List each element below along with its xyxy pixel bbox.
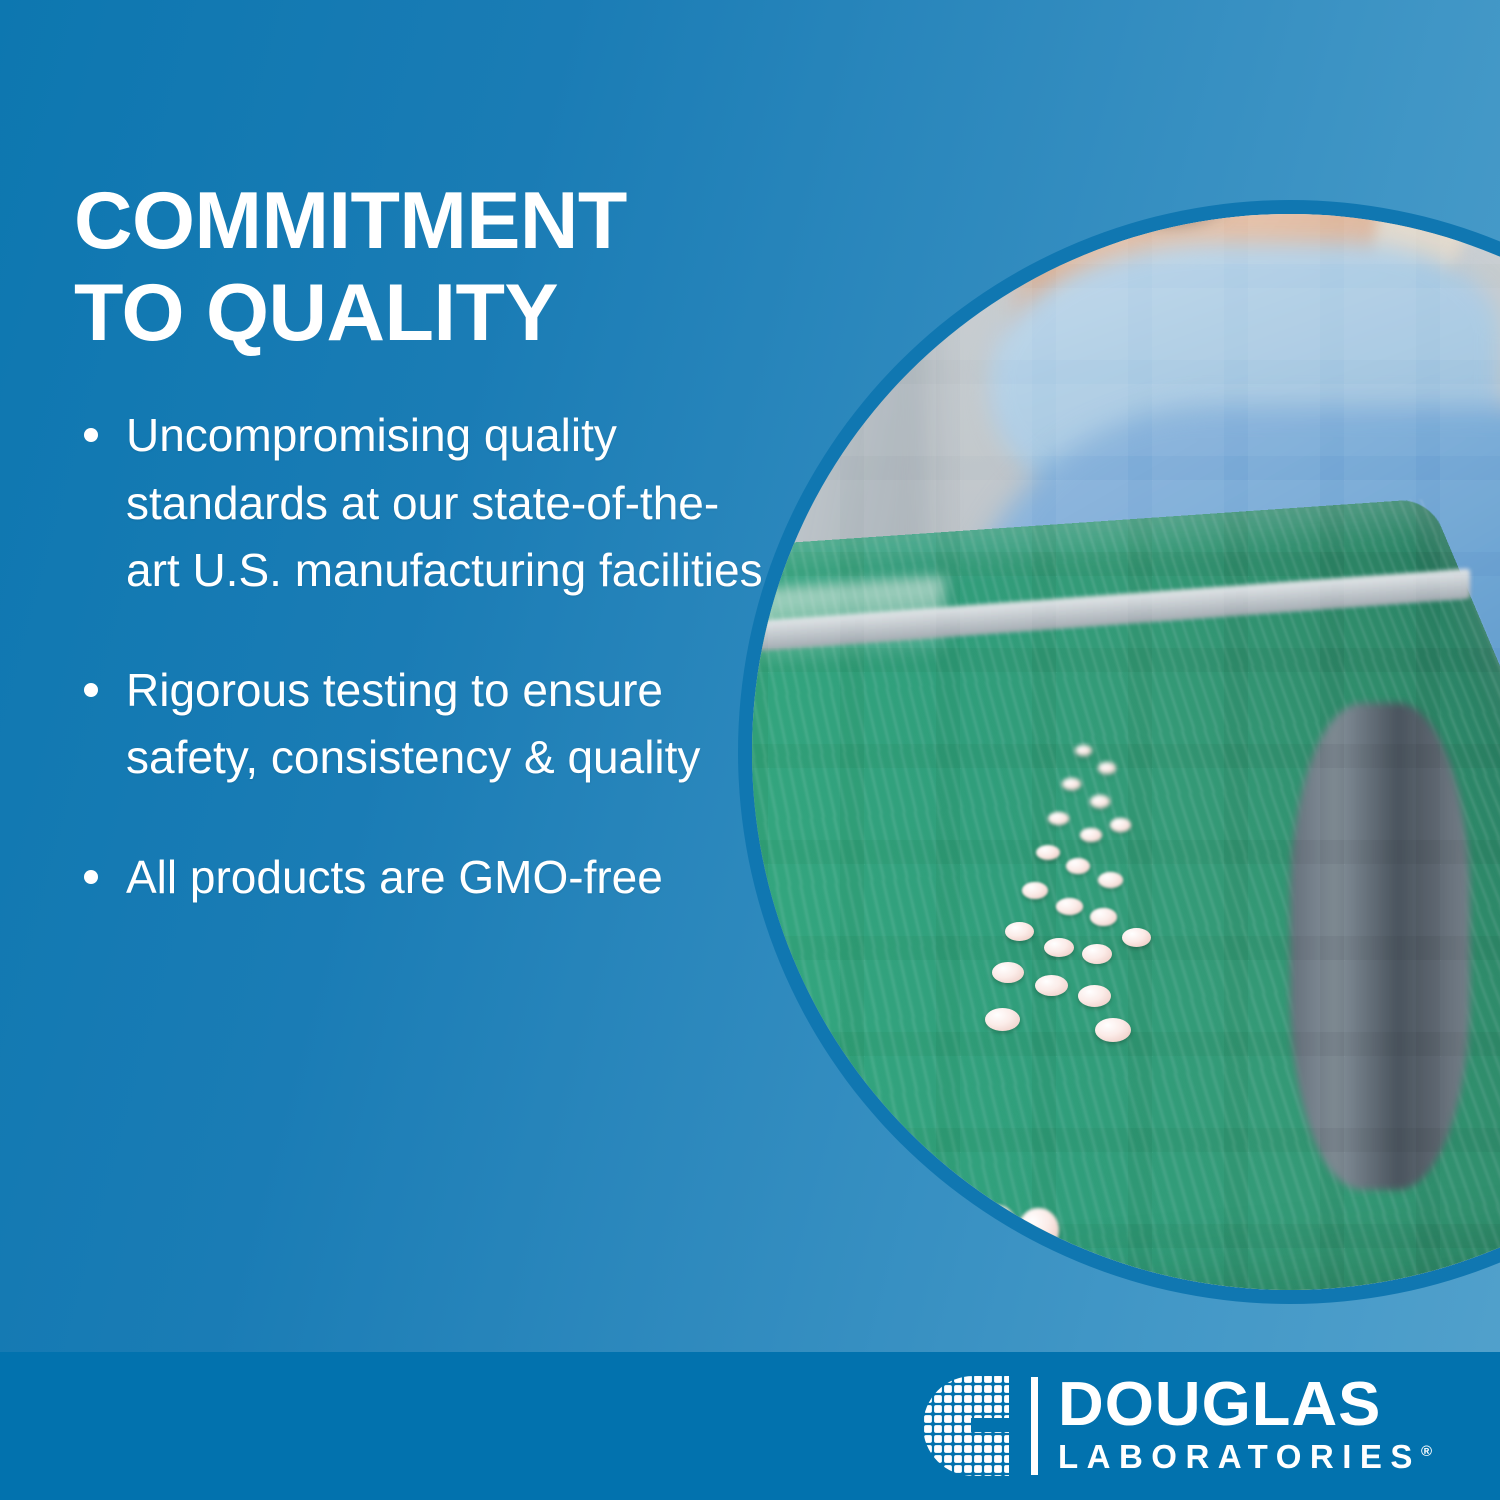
list-item: Rigorous testing to ensure safety, consi… — [74, 657, 764, 792]
benefits-list: Uncompromising quality standards at our … — [74, 402, 764, 912]
list-item-text: Rigorous testing to ensure safety, consi… — [126, 664, 700, 784]
list-item-text: All products are GMO-free — [126, 851, 663, 903]
logo-divider — [1031, 1377, 1038, 1475]
bullet-dot-icon — [84, 683, 98, 697]
list-item-text: Uncompromising quality standards at our … — [126, 409, 763, 596]
manufacturing-photo — [752, 214, 1500, 1290]
logo-subbrand: LABORATORIES® — [1058, 1436, 1432, 1477]
bullet-dot-icon — [84, 870, 98, 884]
photo-grid-watermark-dots — [752, 214, 1500, 1290]
brand-logo: DOUGLAS LABORATORIES® — [913, 1368, 1432, 1484]
registered-trademark-icon: ® — [1421, 1443, 1432, 1460]
page-title-line2: TO QUALITY — [74, 268, 558, 358]
poster-canvas: COMMITMENT TO QUALITY Uncompromising qua… — [0, 0, 1500, 1500]
page-title: COMMITMENT TO QUALITY — [74, 176, 774, 359]
logo-subbrand-text: LABORATORIES — [1058, 1438, 1421, 1475]
logo-wordmark: DOUGLAS LABORATORIES® — [1058, 1375, 1432, 1477]
douglas-grid-g-icon — [913, 1374, 1017, 1478]
list-item: All products are GMO-free — [74, 844, 764, 912]
logo-brand-name: DOUGLAS — [1058, 1375, 1440, 1436]
list-item: Uncompromising quality standards at our … — [74, 402, 764, 605]
footer-band: DOUGLAS LABORATORIES® — [0, 1352, 1500, 1500]
bullet-dot-icon — [84, 428, 98, 442]
page-title-line1: COMMITMENT — [74, 176, 627, 266]
photo-inner — [752, 214, 1500, 1290]
